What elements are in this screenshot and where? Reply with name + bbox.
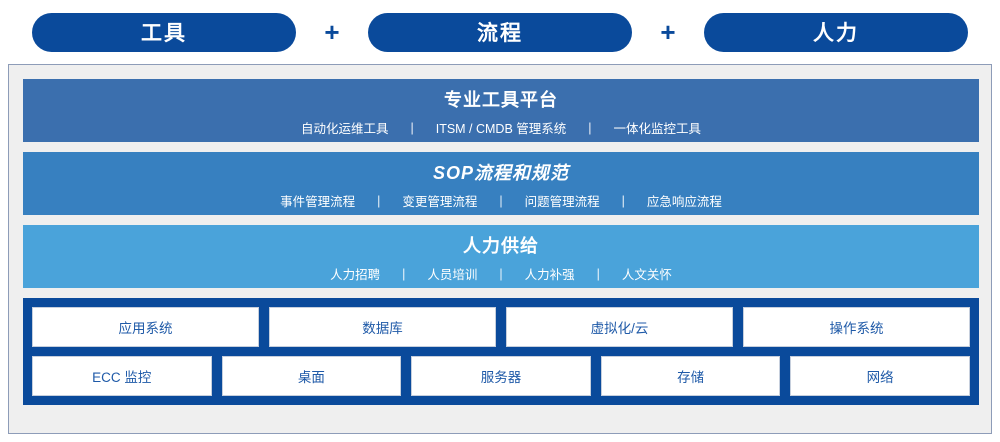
band-tool-platform-items: 自动化运维工具 | ITSM / CMDB 管理系统 | 一体化监控工具	[301, 118, 701, 137]
band-item[interactable]: 变更管理流程	[402, 191, 477, 210]
pill-manpower-label: 人力	[813, 17, 859, 47]
item-divider: |	[380, 267, 427, 281]
infrastructure-row-2: ECC 监控 桌面 服务器 存储 网络	[32, 356, 970, 396]
band-item[interactable]: 问题管理流程	[525, 191, 600, 210]
plus-separator-1: +	[296, 19, 368, 45]
band-item[interactable]: ITSM / CMDB 管理系统	[436, 118, 567, 137]
band-item[interactable]: 应急响应流程	[647, 191, 722, 210]
infrastructure-row-1: 应用系统 数据库 虚拟化/云 操作系统	[32, 307, 970, 347]
band-item[interactable]: 事件管理流程	[280, 191, 355, 210]
infra-box-application-system[interactable]: 应用系统	[32, 307, 259, 347]
pill-process[interactable]: 流程	[368, 13, 632, 52]
band-item[interactable]: 人力补强	[525, 264, 575, 283]
infra-box-virtualization-cloud[interactable]: 虚拟化/云	[506, 307, 733, 347]
band-sop-process-items: 事件管理流程 | 变更管理流程 | 问题管理流程 | 应急响应流程	[280, 191, 722, 210]
diagram-root: 工具 + 流程 + 人力 专业工具平台 自动化运维工具 | ITSM / CMD…	[0, 0, 1000, 442]
infra-box-storage[interactable]: 存储	[601, 356, 781, 396]
band-sop-process[interactable]: SOP流程和规范 事件管理流程 | 变更管理流程 | 问题管理流程 | 应急响应…	[23, 152, 979, 215]
band-manpower-supply-title: 人力供给	[463, 232, 539, 258]
band-sop-process-title: SOP流程和规范	[433, 159, 569, 185]
infra-box-operating-system[interactable]: 操作系统	[743, 307, 970, 347]
item-divider: |	[575, 267, 622, 281]
band-item[interactable]: 一体化监控工具	[614, 118, 702, 137]
infra-box-network[interactable]: 网络	[790, 356, 970, 396]
infra-box-ecc-monitoring[interactable]: ECC 监控	[32, 356, 212, 396]
pill-tools[interactable]: 工具	[32, 13, 296, 52]
band-tool-platform-title: 专业工具平台	[444, 86, 558, 112]
plus-separator-2: +	[632, 19, 704, 45]
capability-frame: 专业工具平台 自动化运维工具 | ITSM / CMDB 管理系统 | 一体化监…	[8, 64, 992, 434]
band-item[interactable]: 自动化运维工具	[301, 118, 389, 137]
infra-box-desktop[interactable]: 桌面	[222, 356, 402, 396]
pill-tools-label: 工具	[141, 17, 187, 47]
band-item[interactable]: 人力招聘	[330, 264, 380, 283]
band-item[interactable]: 人文关怀	[622, 264, 672, 283]
pill-process-label: 流程	[477, 17, 523, 47]
item-divider: |	[566, 121, 613, 135]
pill-manpower[interactable]: 人力	[704, 13, 968, 52]
band-tool-platform[interactable]: 专业工具平台 自动化运维工具 | ITSM / CMDB 管理系统 | 一体化监…	[23, 79, 979, 142]
band-manpower-supply[interactable]: 人力供给 人力招聘 | 人员培训 | 人力补强 | 人文关怀	[23, 225, 979, 288]
infrastructure-panel: 应用系统 数据库 虚拟化/云 操作系统 ECC 监控 桌面 服务器 存储 网络	[23, 298, 979, 405]
item-divider: |	[600, 194, 647, 208]
band-manpower-supply-items: 人力招聘 | 人员培训 | 人力补强 | 人文关怀	[330, 264, 672, 283]
item-divider: |	[477, 194, 524, 208]
header-pill-row: 工具 + 流程 + 人力	[0, 0, 1000, 64]
infra-box-server[interactable]: 服务器	[411, 356, 591, 396]
infra-box-database[interactable]: 数据库	[269, 307, 496, 347]
item-divider: |	[355, 194, 402, 208]
item-divider: |	[477, 267, 524, 281]
band-item[interactable]: 人员培训	[427, 264, 477, 283]
item-divider: |	[388, 121, 435, 135]
